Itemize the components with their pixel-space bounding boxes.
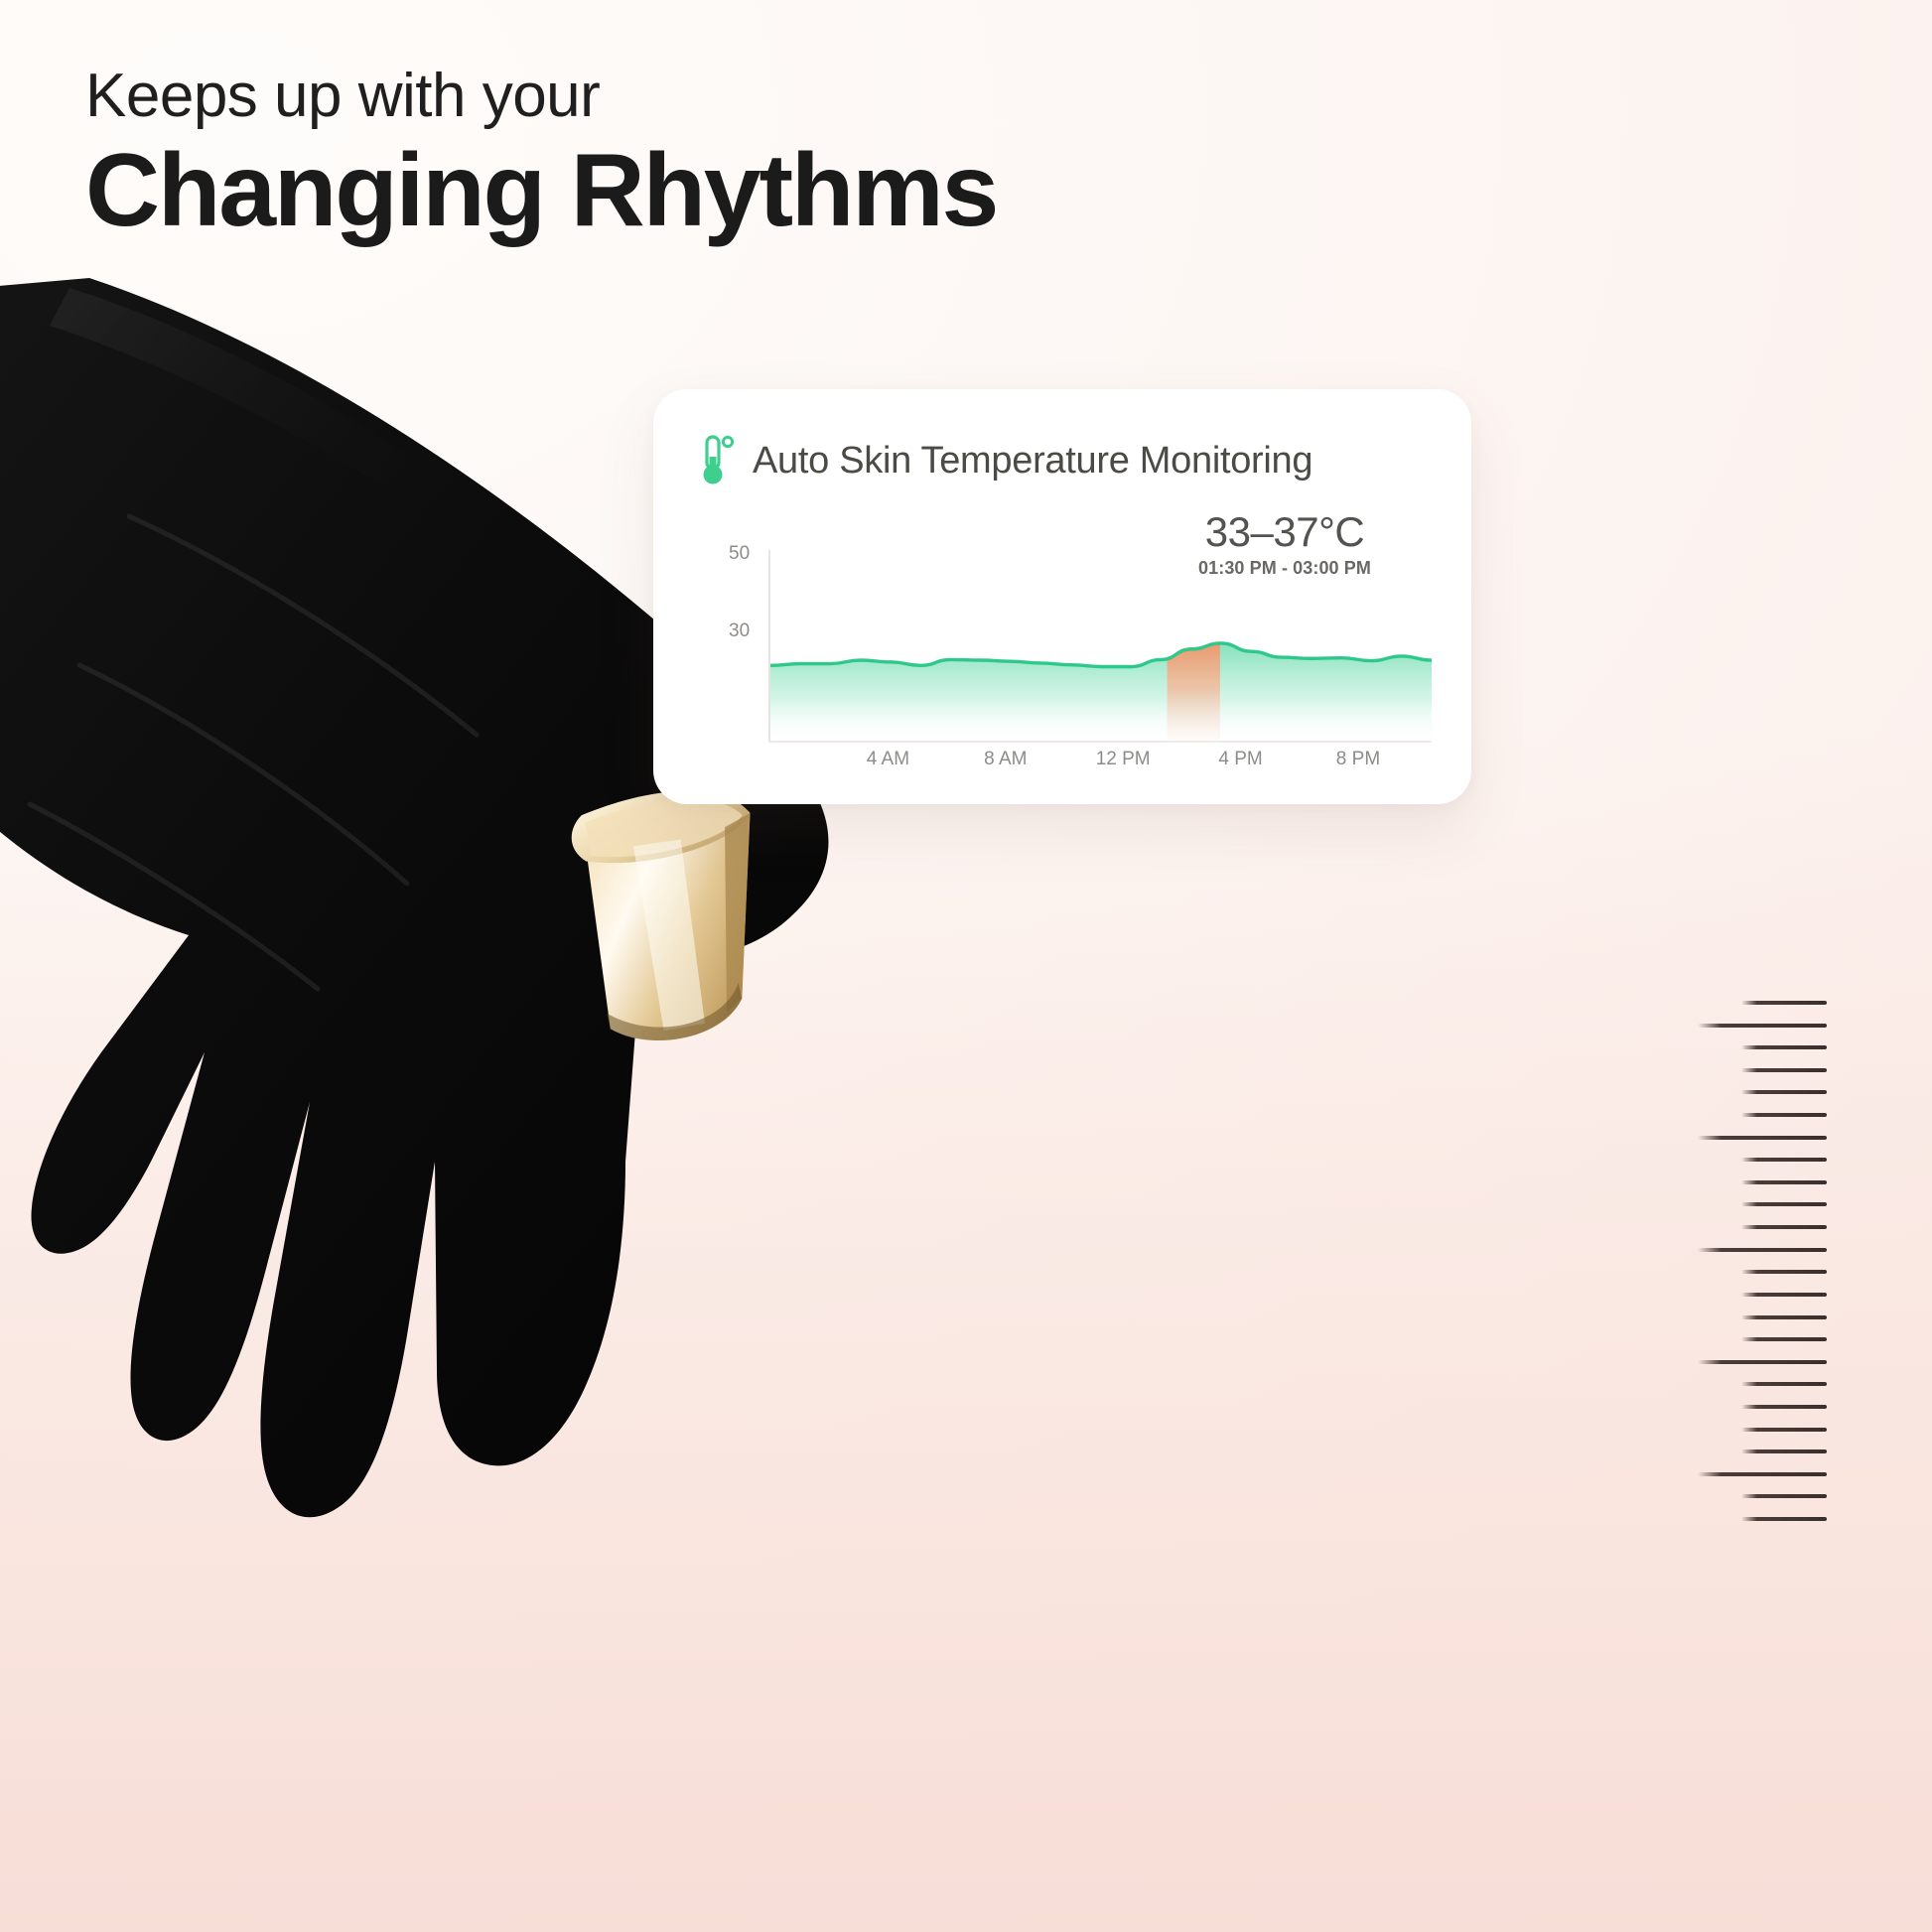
- ruler-tick-minor: [1741, 1045, 1827, 1049]
- x-tick-label: 4 AM: [867, 749, 909, 770]
- poster-canvas: Keeps up with your Changing Rhythms: [0, 0, 1932, 1932]
- card-title: Auto Skin Temperature Monitoring: [753, 440, 1312, 483]
- ruler-tick-minor: [1741, 1382, 1827, 1386]
- measurement-ruler: [1698, 1001, 1827, 1517]
- ruler-tick-major: [1698, 1024, 1827, 1028]
- x-tick-label: 4 PM: [1218, 749, 1262, 770]
- temperature-chart[interactable]: 50 30 33–37°C 01:30 PM - 03:00 PM: [701, 538, 1432, 780]
- ruler-tick-minor: [1741, 1180, 1827, 1184]
- ruler-tick-minor: [1741, 1202, 1827, 1206]
- ruler-tick-minor: [1741, 1090, 1827, 1094]
- ruler-tick-major: [1698, 1360, 1827, 1364]
- ruler-tick-minor: [1741, 1158, 1827, 1162]
- ruler-tick-minor: [1741, 1068, 1827, 1072]
- ruler-tick-minor: [1741, 1337, 1827, 1341]
- ruler-tick-minor: [1741, 1001, 1827, 1005]
- ruler-tick-major: [1698, 1136, 1827, 1140]
- ruler-tick-minor: [1741, 1315, 1827, 1319]
- headline-main: Changing Rhythms: [85, 137, 1376, 244]
- ruler-tick-minor: [1741, 1494, 1827, 1498]
- ruler-tick-minor: [1741, 1428, 1827, 1432]
- ruler-tick-major: [1698, 1472, 1827, 1476]
- chart-plot-area: [770, 538, 1432, 743]
- headline-kicker: Keeps up with your: [85, 64, 1376, 129]
- ruler-tick-minor: [1741, 1449, 1827, 1453]
- skin-temperature-card[interactable]: Auto Skin Temperature Monitoring 50 30 3…: [653, 389, 1471, 804]
- x-tick-label: 12 PM: [1096, 749, 1151, 770]
- ruler-tick-minor: [1741, 1270, 1827, 1274]
- ruler-tick-minor: [1741, 1293, 1827, 1297]
- headline-block: Keeps up with your Changing Rhythms: [85, 64, 1376, 244]
- ruler-tick-minor: [1741, 1405, 1827, 1409]
- x-axis-labels: 4 AM8 AM12 PM4 PM8 PM: [770, 749, 1432, 778]
- ruler-tick-minor: [1741, 1113, 1827, 1117]
- x-tick-label: 8 AM: [984, 749, 1027, 770]
- ruler-tick-major: [1698, 1248, 1827, 1252]
- card-header: Auto Skin Temperature Monitoring: [701, 435, 1312, 486]
- ruler-tick-minor: [1741, 1225, 1827, 1229]
- x-tick-label: 8 PM: [1336, 749, 1380, 770]
- thermometer-icon: [701, 435, 735, 486]
- ruler-tick-minor: [1741, 1517, 1827, 1521]
